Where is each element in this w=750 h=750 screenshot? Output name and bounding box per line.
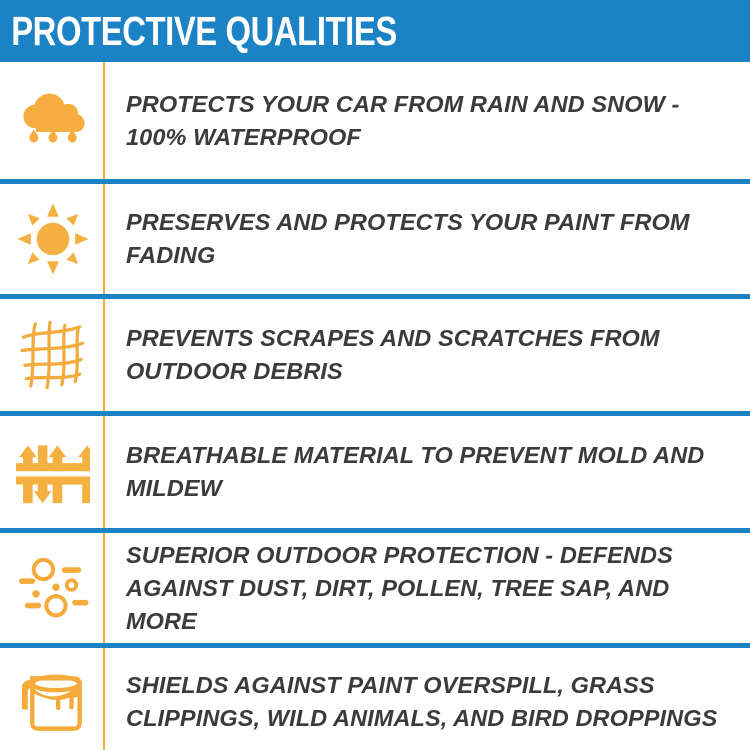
- header-bar: PROTECTIVE QUALITIES: [0, 0, 750, 62]
- breathable-airflow-icon: [16, 435, 90, 509]
- text-cell: PREVENTS SCRAPES AND SCRATCHES FROM OUTD…: [105, 299, 750, 411]
- protective-qualities-infographic: PROTECTIVE QUALITIES PROTECTS YOUR CAR F…: [0, 0, 750, 750]
- text-cell: SUPERIOR OUTDOOR PROTECTION - DEFENDS AG…: [105, 533, 750, 643]
- feature-row-paint: SHIELDS AGAINST PAINT OVERSPILL, GRASS C…: [0, 648, 750, 750]
- scratches-icon: [16, 318, 90, 392]
- icon-cell: [0, 533, 105, 643]
- feature-text: PRESERVES AND PROTECTS YOUR PAINT FROM F…: [126, 206, 732, 272]
- feature-text: BREATHABLE MATERIAL TO PREVENT MOLD AND …: [126, 439, 732, 505]
- icon-cell: [0, 62, 105, 179]
- feature-row-breathable: BREATHABLE MATERIAL TO PREVENT MOLD AND …: [0, 416, 750, 528]
- feature-text: SUPERIOR OUTDOOR PROTECTION - DEFENDS AG…: [126, 539, 732, 638]
- page-title: PROTECTIVE QUALITIES: [0, 11, 397, 52]
- feature-row-rain: PROTECTS YOUR CAR FROM RAIN AND SNOW - 1…: [0, 62, 750, 179]
- text-cell: SHIELDS AGAINST PAINT OVERSPILL, GRASS C…: [105, 648, 750, 750]
- feature-list: PROTECTS YOUR CAR FROM RAIN AND SNOW - 1…: [0, 62, 750, 750]
- feature-text: PREVENTS SCRAPES AND SCRATCHES FROM OUTD…: [126, 322, 732, 388]
- feature-row-scratches: PREVENTS SCRAPES AND SCRATCHES FROM OUTD…: [0, 299, 750, 411]
- icon-cell: [0, 416, 105, 528]
- paint-bucket-icon: [16, 665, 90, 739]
- feature-text: PROTECTS YOUR CAR FROM RAIN AND SNOW - 1…: [126, 88, 732, 154]
- text-cell: PROTECTS YOUR CAR FROM RAIN AND SNOW - 1…: [105, 62, 750, 179]
- dust-particles-icon: [16, 551, 90, 625]
- rain-cloud-icon: [16, 84, 90, 158]
- sun-icon: [16, 202, 90, 276]
- feature-row-dust: SUPERIOR OUTDOOR PROTECTION - DEFENDS AG…: [0, 533, 750, 643]
- icon-cell: [0, 648, 105, 750]
- text-cell: BREATHABLE MATERIAL TO PREVENT MOLD AND …: [105, 416, 750, 528]
- icon-cell: [0, 299, 105, 411]
- icon-cell: [0, 184, 105, 294]
- text-cell: PRESERVES AND PROTECTS YOUR PAINT FROM F…: [105, 184, 750, 294]
- feature-text: SHIELDS AGAINST PAINT OVERSPILL, GRASS C…: [126, 669, 732, 735]
- feature-row-sun: PRESERVES AND PROTECTS YOUR PAINT FROM F…: [0, 184, 750, 294]
